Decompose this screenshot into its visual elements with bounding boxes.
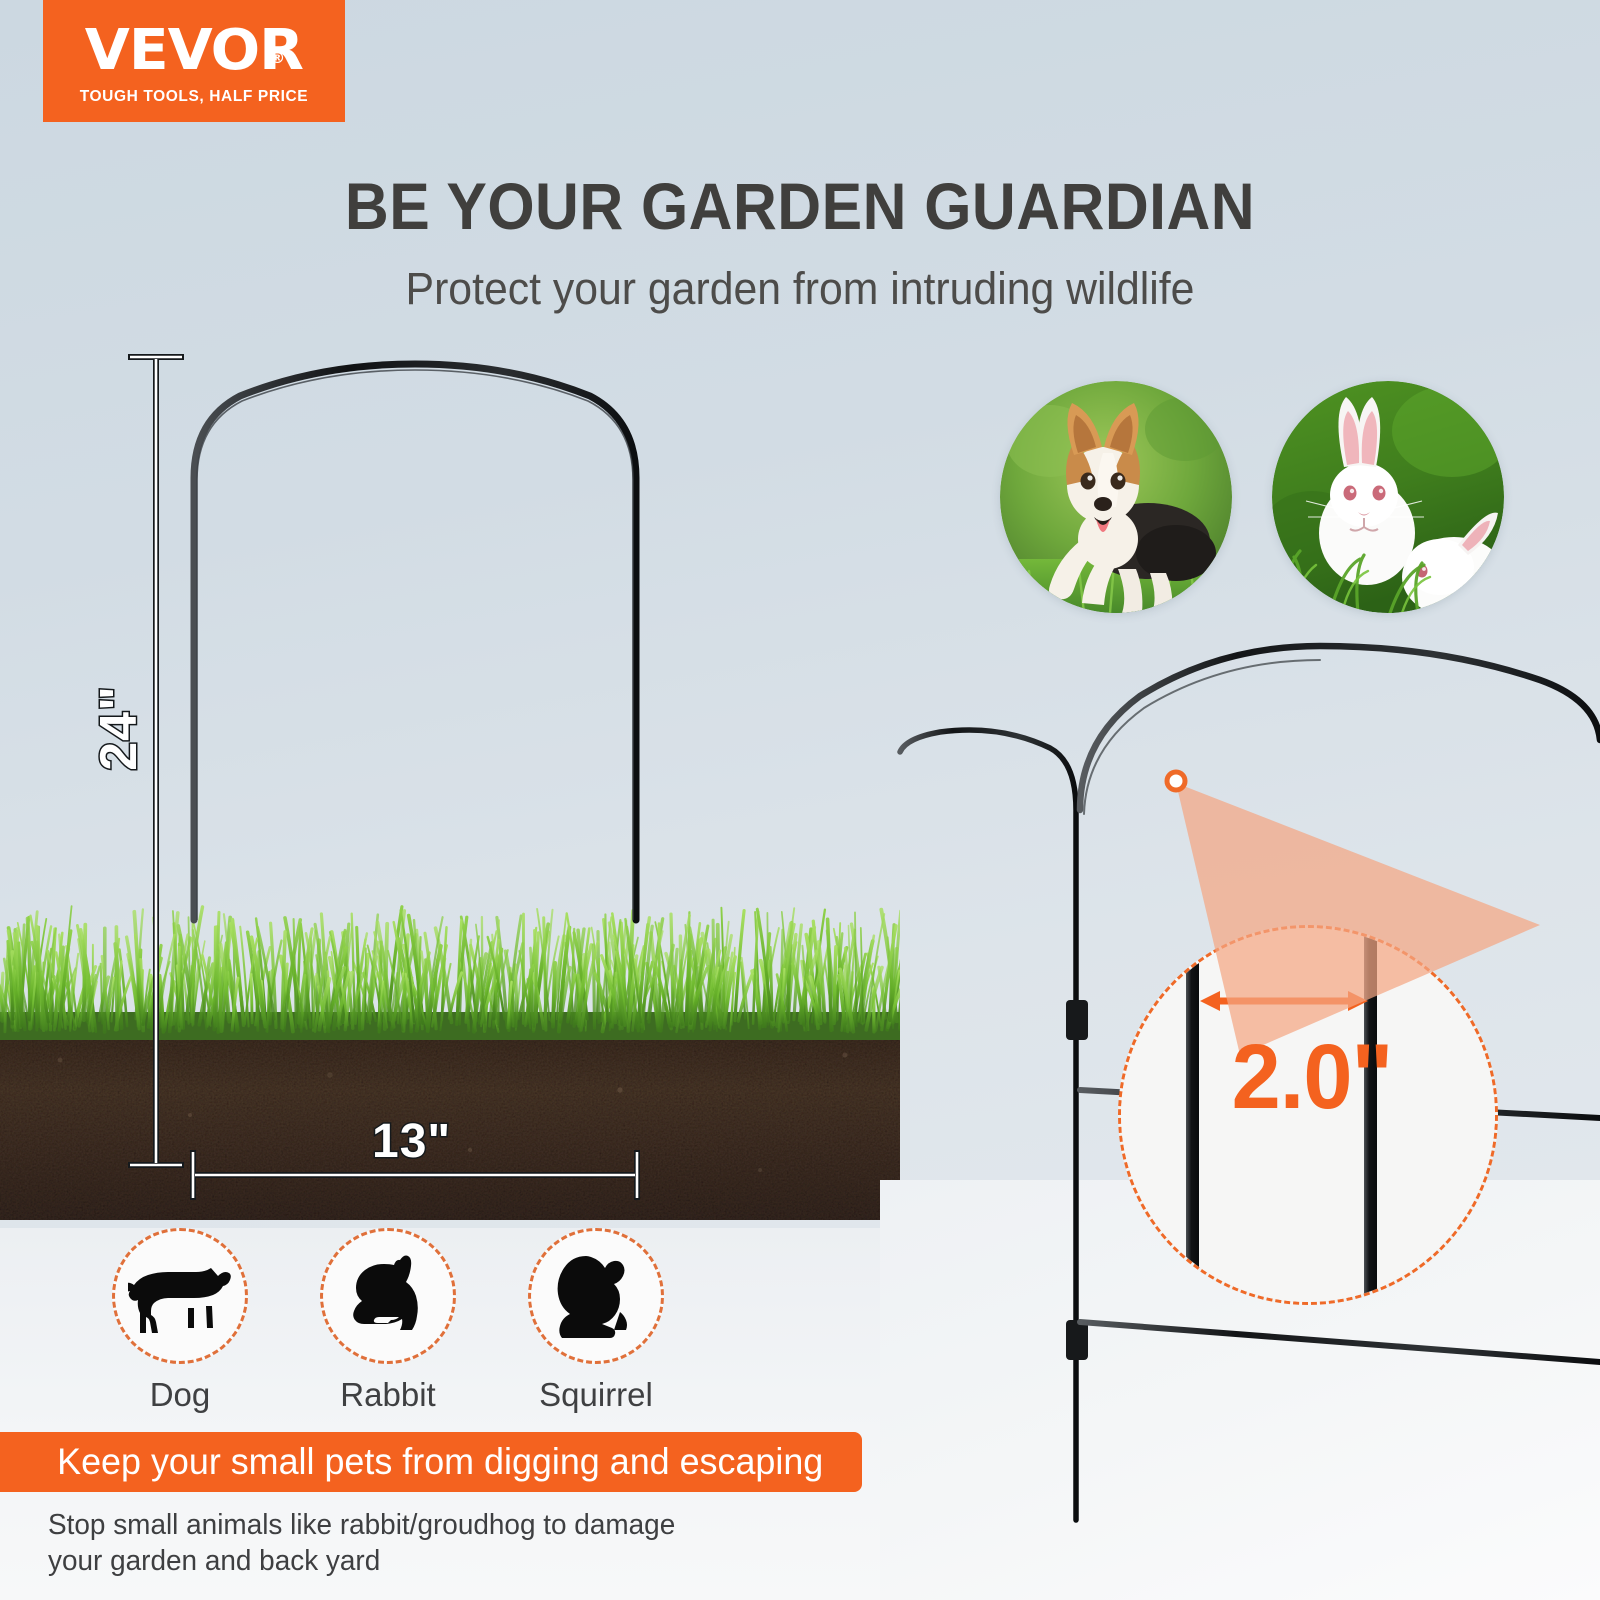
rabbit-silhouette-icon xyxy=(345,1254,431,1338)
squirrel-icon-disc xyxy=(528,1228,664,1364)
squirrel-silhouette-icon xyxy=(550,1252,642,1340)
animal-item-squirrel: Squirrel xyxy=(516,1228,676,1414)
width-dimension-label: 13" xyxy=(372,1114,451,1169)
animal-label-dog: Dog xyxy=(100,1376,260,1414)
gap-dimension-label: 2.0" xyxy=(1168,1025,1456,1130)
brand-tagline: TOUGH TOOLS, HALF PRICE xyxy=(80,88,309,106)
feature-banner-text: Keep your small pets from digging and es… xyxy=(13,1441,824,1483)
dog-icon-disc xyxy=(112,1228,248,1364)
feature-description-line1: Stop small animals like rabbit/groudhog … xyxy=(48,1507,734,1543)
height-dimension-label: 24" xyxy=(89,685,149,771)
feature-description-line2: your garden and back yard xyxy=(48,1543,734,1579)
photo-dog xyxy=(1000,381,1232,613)
animal-label-squirrel: Squirrel xyxy=(516,1376,676,1414)
animal-item-rabbit: Rabbit xyxy=(308,1228,468,1414)
feature-banner: Keep your small pets from digging and es… xyxy=(0,1432,862,1492)
brand-name: VEVOR ® xyxy=(85,23,303,79)
rabbit-icon-disc xyxy=(320,1228,456,1364)
animal-label-rabbit: Rabbit xyxy=(308,1376,468,1414)
infographic-canvas: 24" 13" VEVOR ® TOUGH TOOLS, HALF PRICE … xyxy=(0,0,1600,1600)
page-title: BE YOUR GARDEN GUARDIAN xyxy=(64,168,1536,244)
dog-silhouette-icon xyxy=(128,1256,232,1336)
fence-panel-diagram xyxy=(180,360,650,1160)
page-subtitle: Protect your garden from intruding wildl… xyxy=(40,263,1560,315)
animal-item-dog: Dog xyxy=(100,1228,260,1414)
registered-trademark-icon: ® xyxy=(270,51,285,66)
photo-rabbit xyxy=(1272,381,1504,613)
feature-description: Stop small animals like rabbit/groudhog … xyxy=(48,1507,734,1580)
vevor-logo: VEVOR ® TOUGH TOOLS, HALF PRICE xyxy=(43,0,345,122)
blocked-animals-list: Dog Rabbit Squirrel xyxy=(100,1228,740,1428)
